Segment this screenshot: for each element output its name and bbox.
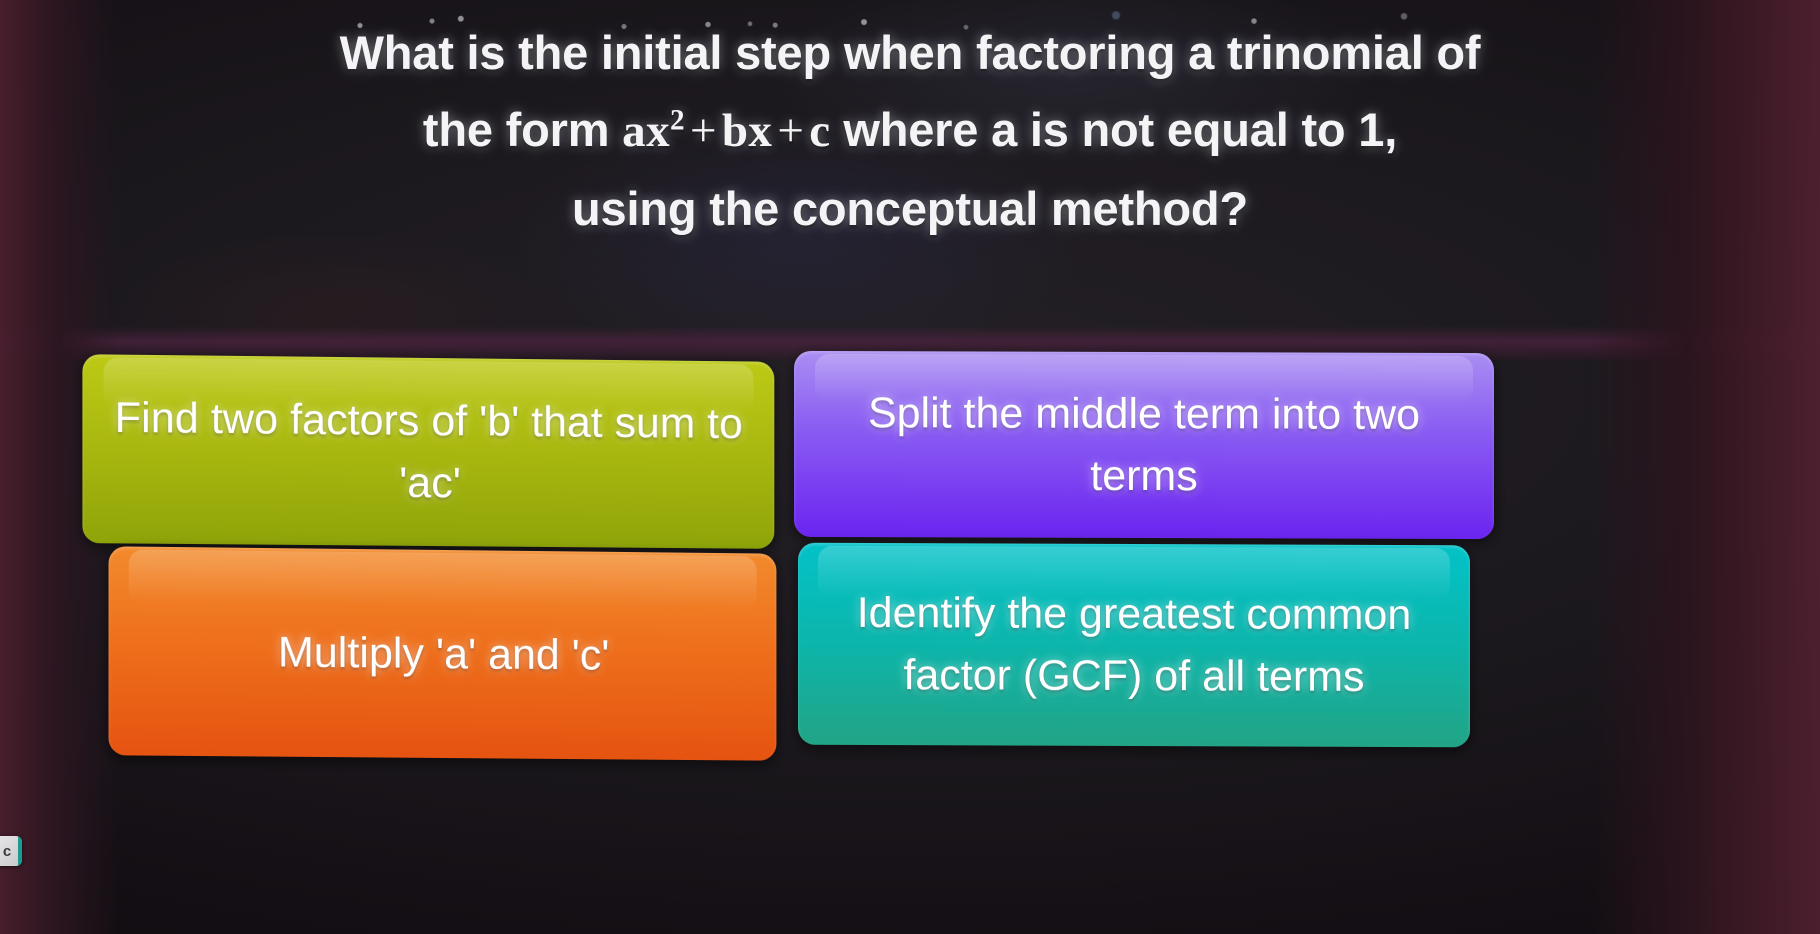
corner-badge-label: c xyxy=(3,843,11,860)
question-line-1: What is the initial step when factoring … xyxy=(340,26,1481,79)
math-operator-plus-1: + xyxy=(685,105,722,157)
answer-option-c[interactable]: Multiply 'a' and 'c' xyxy=(109,546,777,760)
question-line-2-suffix: where a is not equal to 1, xyxy=(831,103,1398,156)
math-term-c: c xyxy=(809,105,830,157)
corner-badge-icon[interactable]: c xyxy=(0,836,22,866)
quiz-screen: What is the initial step when factoring … xyxy=(0,0,1820,934)
answer-option-a[interactable]: Find two factors of 'b' that sum to 'ac' xyxy=(82,354,774,549)
math-term-b: bx xyxy=(722,105,772,157)
math-operator-plus-2: + xyxy=(772,105,809,157)
question-line-3: using the conceptual method? xyxy=(572,182,1248,235)
answer-options-grid: Find two factors of 'b' that sum to 'ac'… xyxy=(0,352,1820,892)
corner-badge-accent xyxy=(18,836,22,866)
math-exponent: 2 xyxy=(670,104,685,136)
answer-option-b[interactable]: Split the middle term into two terms xyxy=(794,351,1494,539)
question-text: What is the initial step when factoring … xyxy=(100,14,1720,247)
question-math-expression: ax2+bx+c xyxy=(622,105,830,157)
question-line-2-prefix: the form xyxy=(423,103,622,156)
math-term-a: ax xyxy=(622,105,670,157)
answer-option-d[interactable]: Identify the greatest common factor (GCF… xyxy=(798,543,1470,748)
